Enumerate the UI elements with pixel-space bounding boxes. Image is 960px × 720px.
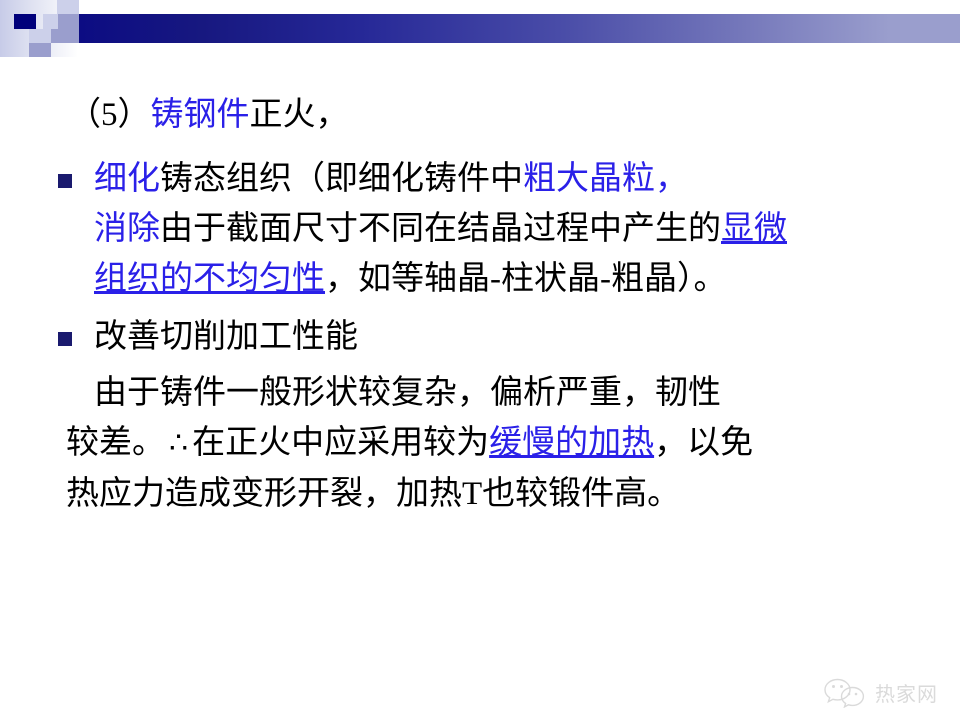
heading-prefix: （5） — [68, 97, 151, 133]
bullet-1-seg-4: 消除 — [94, 211, 160, 247]
slide-content: （5）铸钢件正火， 细化铸态组织（即细化铸件中粗大晶粒， 消除由于截面尺寸不同在… — [0, 90, 960, 519]
bullet-1-seg-6: 显微 — [721, 211, 787, 247]
paragraph-line-2: 较差。∴在正火中应采用较为缓慢的加热，以免 — [66, 418, 960, 469]
bullet-1-line-3: 组织的不均匀性，如等轴晶-柱状晶-粗晶）。 — [94, 254, 960, 304]
banner-gradient-bar — [79, 14, 960, 43]
watermark: 热家网 — [821, 676, 938, 708]
header-decoration-banner — [0, 0, 960, 70]
para-seg-1: 较差。 — [66, 425, 165, 461]
banner-square-navy — [14, 14, 36, 29]
bullet-1-seg-5: 由于截面尺寸不同在结晶过程中产生的 — [160, 211, 721, 247]
banner-square-mid-b — [51, 29, 79, 43]
bullet-1-seg-3: 粗大晶粒， — [523, 161, 688, 197]
wechat-icon — [821, 676, 867, 708]
bullet-item-1: 细化铸态组织（即细化铸件中粗大晶粒， — [48, 154, 960, 204]
square-bullet-icon — [58, 174, 72, 188]
banner-square-pale-top — [57, 0, 79, 15]
heading-suffix: 正火， — [250, 97, 349, 133]
banner-square-pale-b — [29, 29, 51, 43]
bullet-1-seg-7: 组织的不均匀性 — [94, 261, 325, 297]
bullet-1-seg-8: ，如等轴晶-柱状晶-粗晶）。 — [325, 261, 726, 297]
bullet-1-line-2: 消除由于截面尺寸不同在结晶过程中产生的显微 — [94, 204, 960, 254]
heading-highlight: 铸钢件 — [151, 97, 250, 133]
square-bullet-icon — [58, 332, 72, 346]
paragraph-line-3: 热应力造成变形开裂，加热T也较锻件高。 — [66, 469, 960, 519]
bullet-1-seg-2: 铸态组织（即细化铸件中 — [160, 161, 523, 197]
bullet-2-line-1: 改善切削加工性能 — [94, 312, 960, 362]
slide-heading: （5）铸钢件正火， — [68, 90, 960, 140]
paragraph-line-1: 由于铸件一般形状较复杂，偏析严重，韧性 — [94, 368, 960, 418]
therefore-symbol: ∴ — [165, 427, 192, 460]
para-seg-2: 在正火中应采用较为 — [192, 425, 489, 461]
banner-square-mid-c — [29, 43, 51, 57]
para-seg-4: ，以免 — [654, 425, 753, 461]
bullet-1-seg-1: 细化 — [94, 161, 160, 197]
bullet-item-2: 改善切削加工性能 — [48, 312, 960, 362]
watermark-label: 热家网 — [875, 678, 938, 707]
para-seg-3: 缓慢的加热 — [489, 425, 654, 461]
banner-square-mid-a — [58, 14, 79, 29]
bullet-1-line-1: 细化铸态组织（即细化铸件中粗大晶粒， — [94, 154, 960, 204]
banner-square-pale-a — [43, 14, 58, 29]
